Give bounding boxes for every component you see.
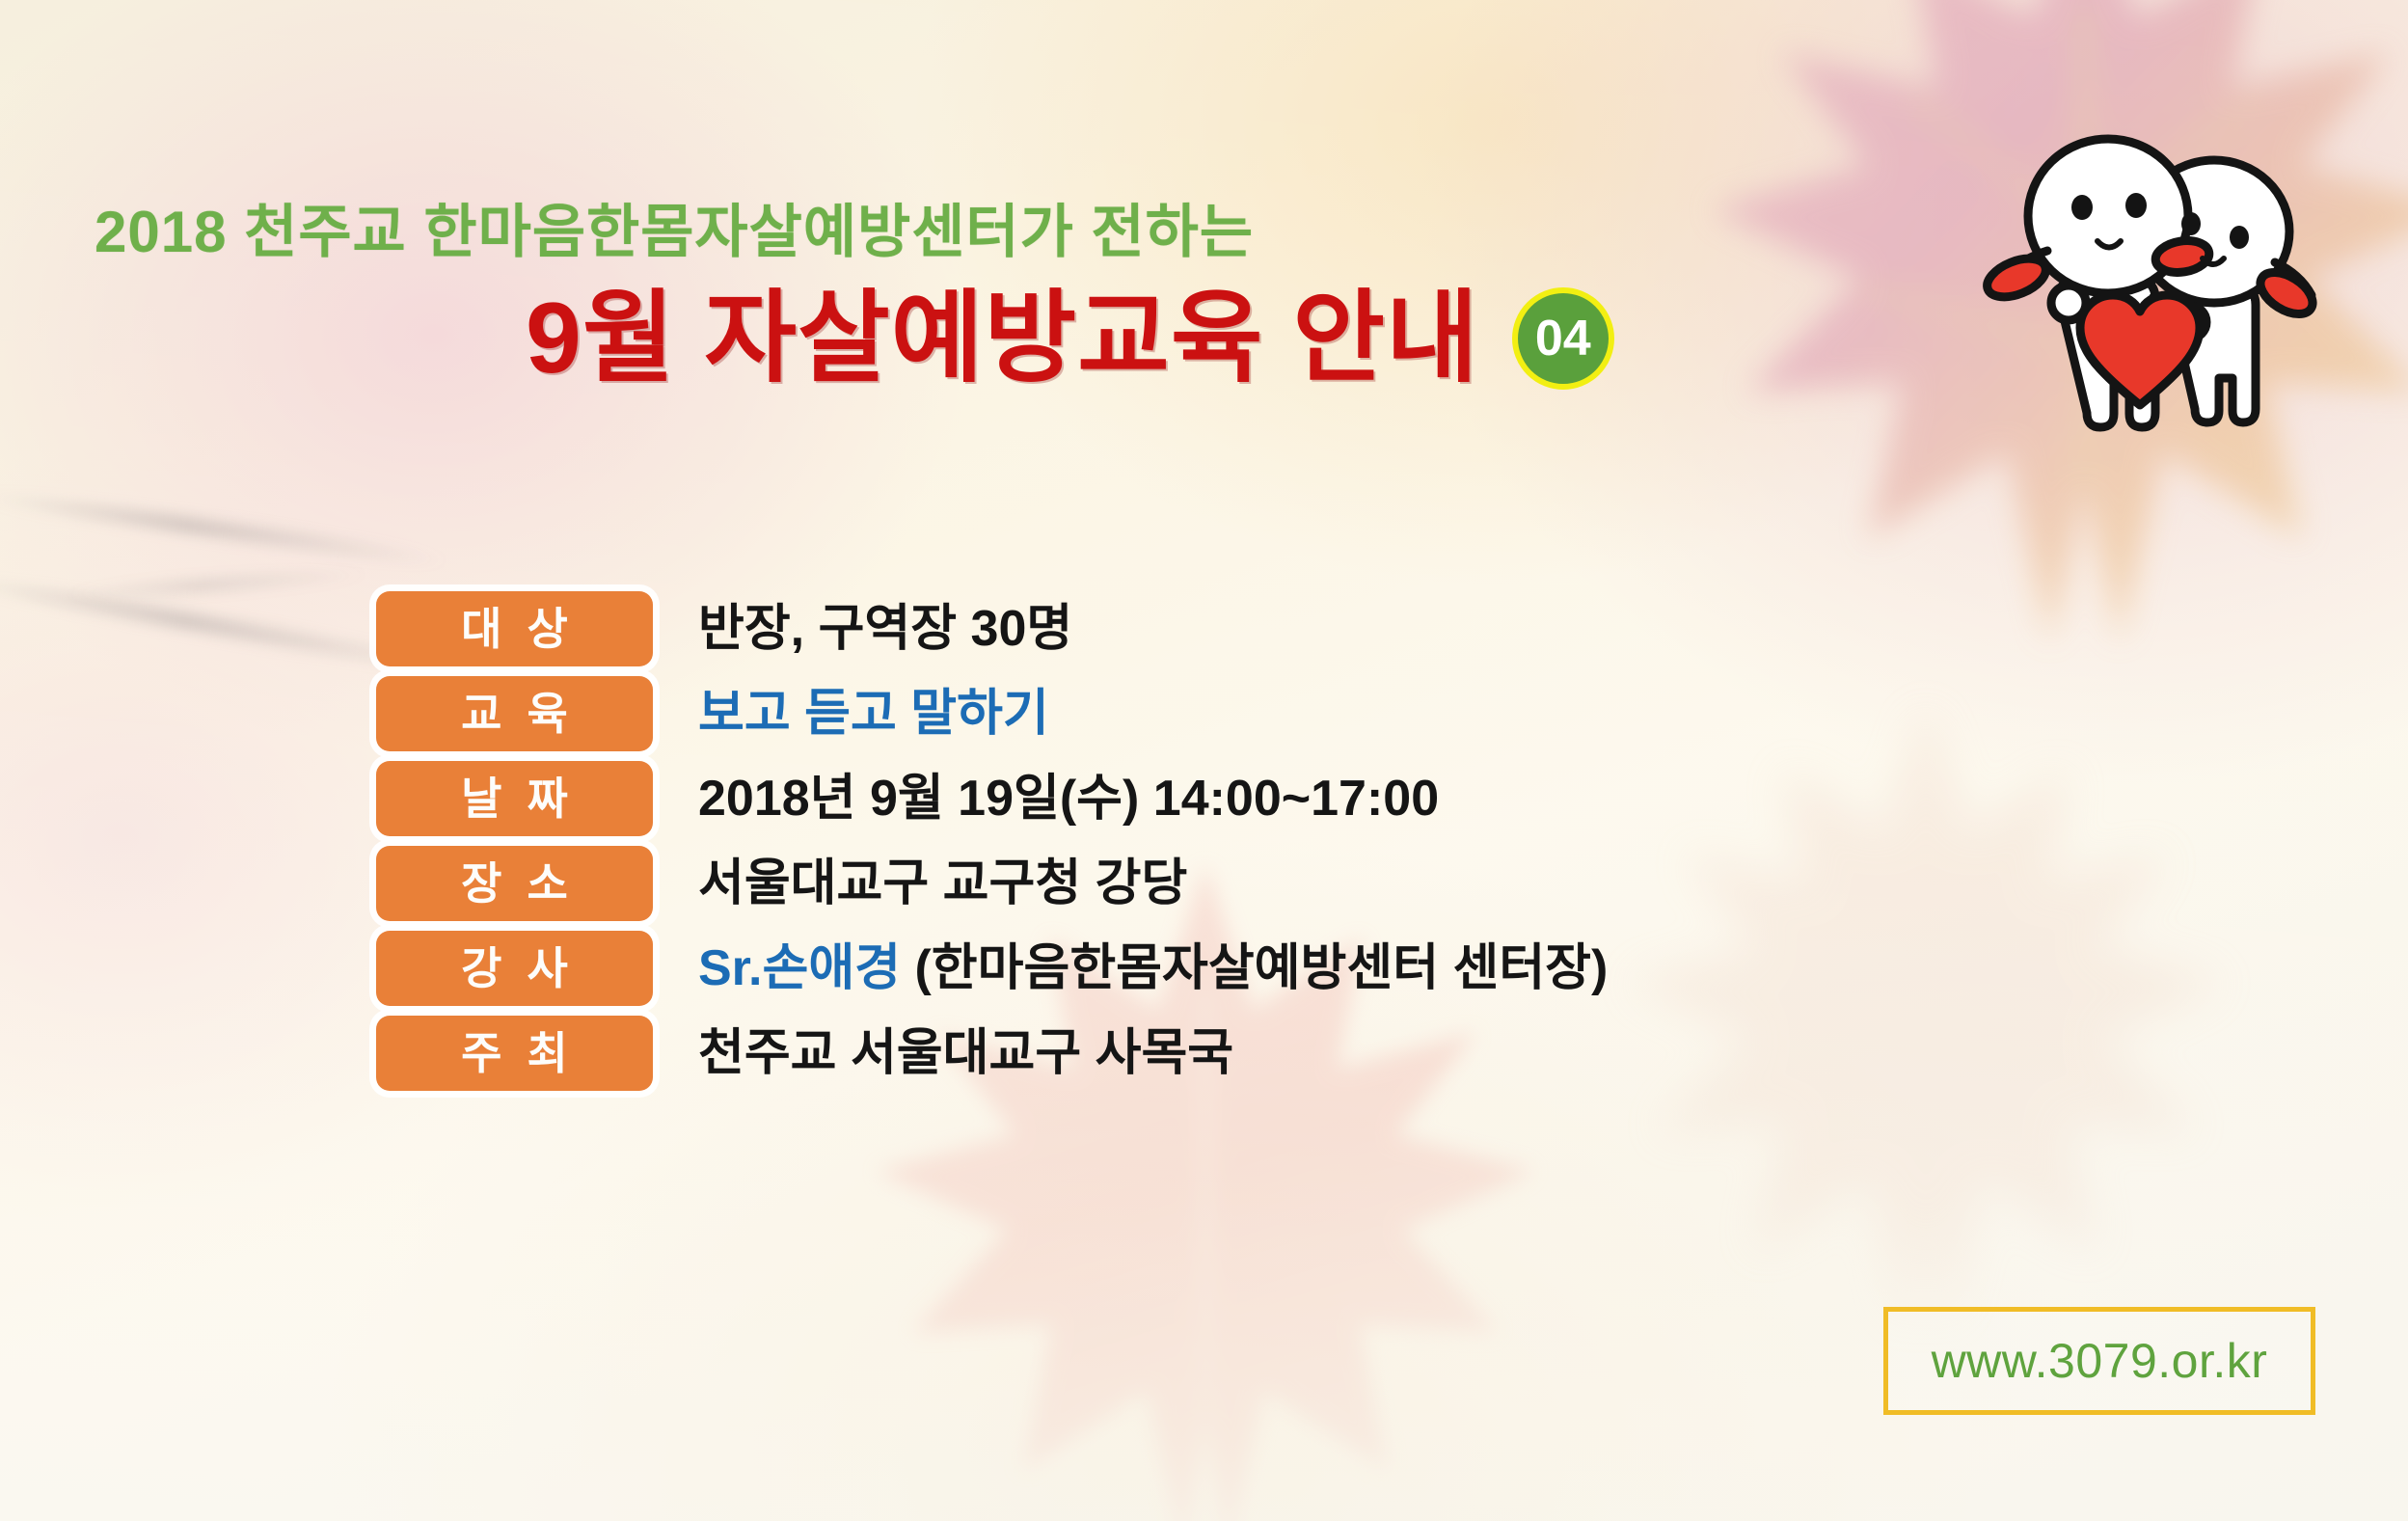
value-program: 보고 듣고 말하기: [698, 689, 1049, 739]
info-row-place: 장소 서울대교구 교구청 강당: [376, 846, 1608, 921]
info-row-target: 대상 반장, 구역장 30명: [376, 591, 1608, 666]
value-lecturer-affiliation: (한마음한몸자살예방센터 센터장): [901, 940, 1608, 996]
value-place: 서울대교구 교구청 강당: [698, 858, 1187, 909]
label-chip-lecturer: 강사: [376, 931, 653, 1006]
value-target: 반장, 구역장 30명: [698, 604, 1072, 654]
mascot-illustration: [1947, 79, 2333, 465]
info-row-host: 주최 천주교 서울대교구 사목국: [376, 1016, 1608, 1091]
info-row-date: 날짜 2018년 9월 19일(수) 14:00~17:00: [376, 761, 1608, 836]
poster-canvas: 2018 천주교 한마음한몸자살예방센터가 전하는 9월 자살예방교육 안내 0…: [0, 0, 2408, 1521]
poster-title-row: 9월 자살예방교육 안내 04: [526, 287, 1614, 390]
page-title: 9월 자살예방교육 안내: [526, 288, 1479, 389]
value-lecturer-name: Sr.손애경: [698, 940, 901, 996]
website-box[interactable]: www.3079.or.kr: [1883, 1307, 2315, 1415]
label-chip-target: 대상: [376, 591, 653, 666]
label-chip-program: 교육: [376, 676, 653, 751]
label-chip-host: 주최: [376, 1016, 653, 1091]
value-lecturer: Sr.손애경 (한마음한몸자살예방센터 센터장): [698, 943, 1608, 993]
value-date: 2018년 9월 19일(수) 14:00~17:00: [698, 774, 1439, 824]
info-table: 대상 반장, 구역장 30명 교육 보고 듣고 말하기 날짜 2018년 9월 …: [376, 591, 1608, 1091]
website-url[interactable]: www.3079.or.kr: [1932, 1337, 2268, 1385]
value-host: 천주교 서울대교구 사목국: [698, 1028, 1233, 1078]
poster-subtitle: 2018 천주교 한마음한몸자살예방센터가 전하는: [95, 185, 1254, 269]
info-row-lecturer: 강사 Sr.손애경 (한마음한몸자살예방센터 센터장): [376, 931, 1608, 1006]
info-row-program: 교육 보고 듣고 말하기: [376, 676, 1608, 751]
title-number-badge: 04: [1512, 287, 1614, 390]
label-chip-date: 날짜: [376, 761, 653, 836]
label-chip-place: 장소: [376, 846, 653, 921]
